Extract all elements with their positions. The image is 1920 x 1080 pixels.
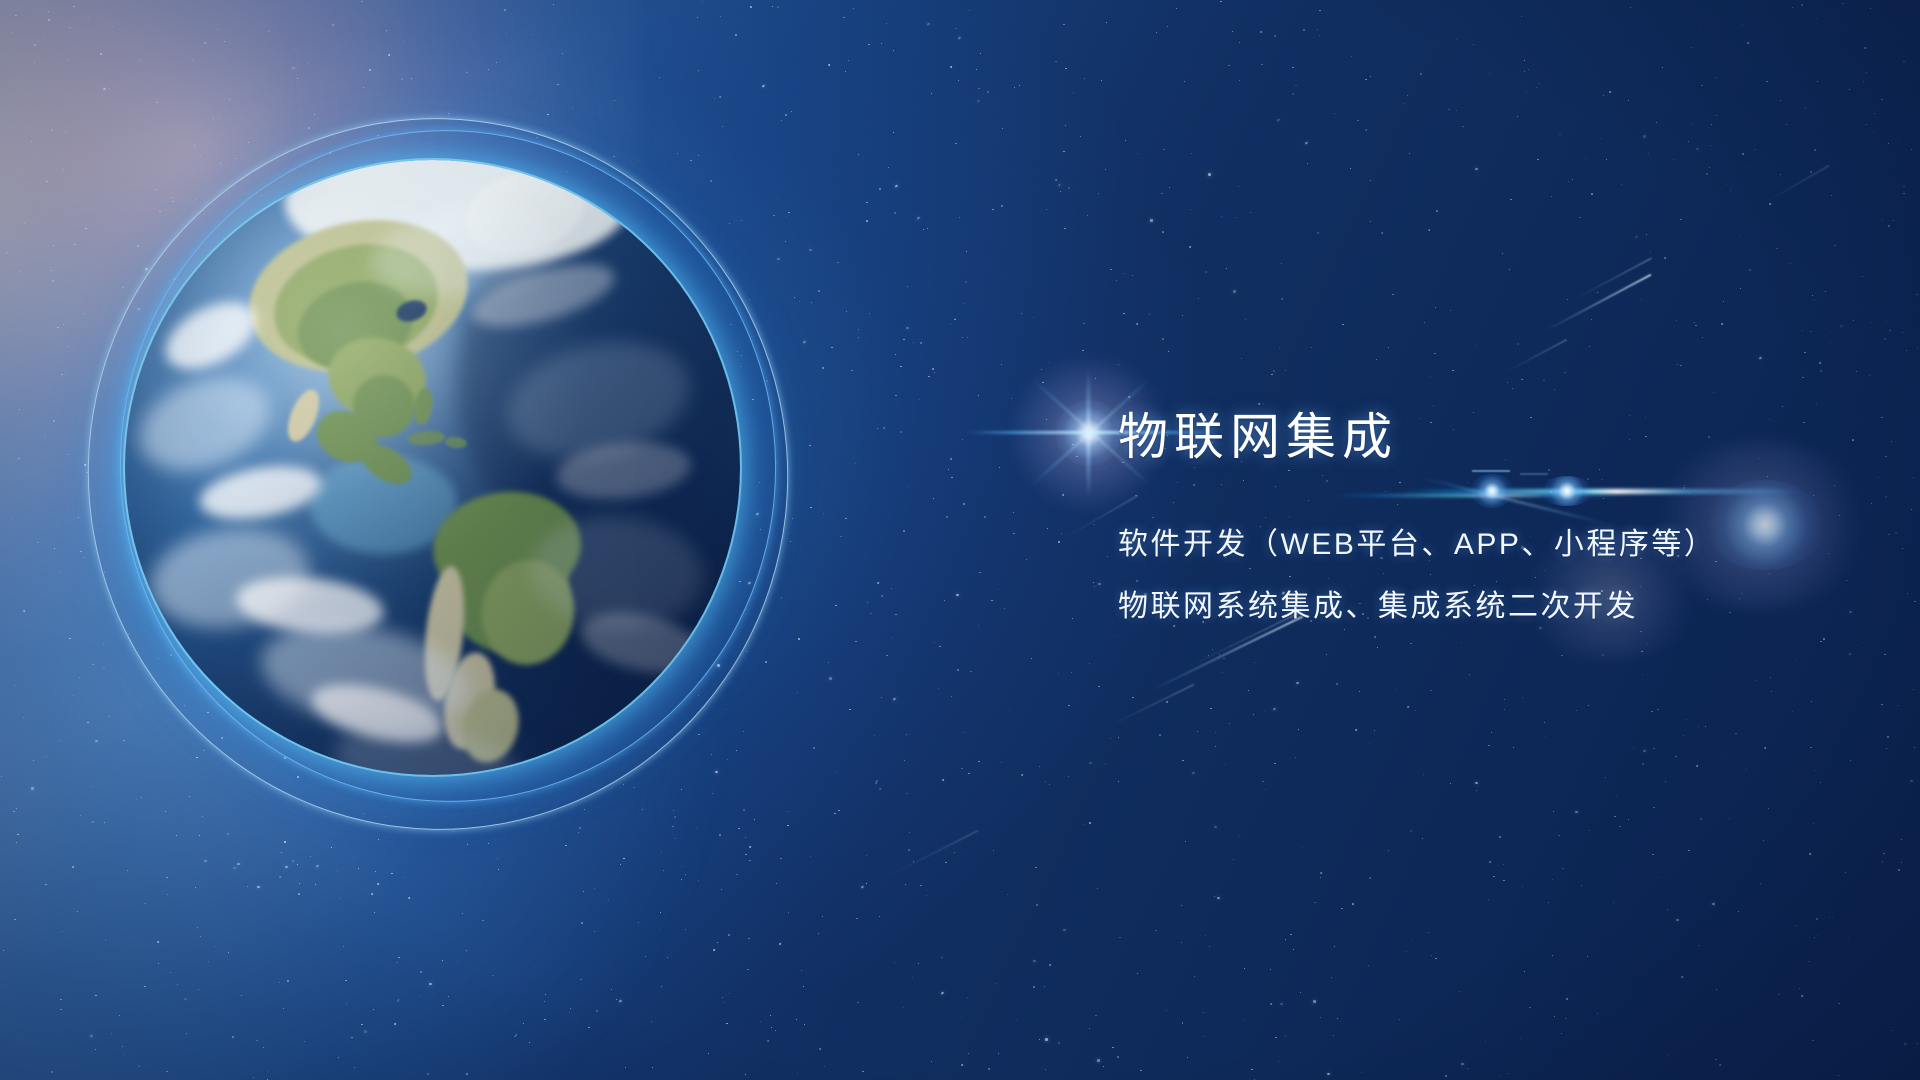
- warm-haze-glow: [0, 0, 280, 640]
- earth-globe: [125, 160, 740, 775]
- meteor-streak: [1572, 258, 1652, 301]
- meteor-streak: [1108, 684, 1195, 727]
- hero-banner: 物联网集成 软件开发（WEB平台、APP、小程序等） 物联网系统集成、集成系统二…: [0, 0, 1920, 1080]
- earth-atmosphere-glow: [63, 98, 802, 837]
- meteor-streak: [880, 830, 979, 881]
- hero-subtitle-line-2: 物联网系统集成、集成系统二次开发: [1118, 592, 1838, 622]
- earth-sphere: [125, 160, 740, 775]
- blue-haze-glow: [0, 180, 720, 1080]
- hero-subtitle-line-1: 软件开发（WEB平台、APP、小程序等）: [1118, 530, 1838, 560]
- lens-flare-star-vertical-beam: [1087, 370, 1090, 498]
- meteor-streak: [1505, 339, 1567, 373]
- meteor-streak: [1760, 165, 1830, 206]
- earth-limb-glow: [125, 160, 740, 775]
- hero-text-block: 物联网集成 软件开发（WEB平台、APP、小程序等） 物联网系统集成、集成系统二…: [1118, 412, 1838, 622]
- meteor-streak: [1545, 274, 1652, 332]
- pink-haze-glow: [0, 0, 640, 600]
- page-title: 物联网集成: [1118, 412, 1838, 462]
- meteor-streak: [1150, 616, 1304, 692]
- lens-flare-star-core: [1056, 400, 1122, 466]
- orbit-ring-inner: [87, 98, 810, 835]
- orbit-ring-outer: [31, 63, 844, 886]
